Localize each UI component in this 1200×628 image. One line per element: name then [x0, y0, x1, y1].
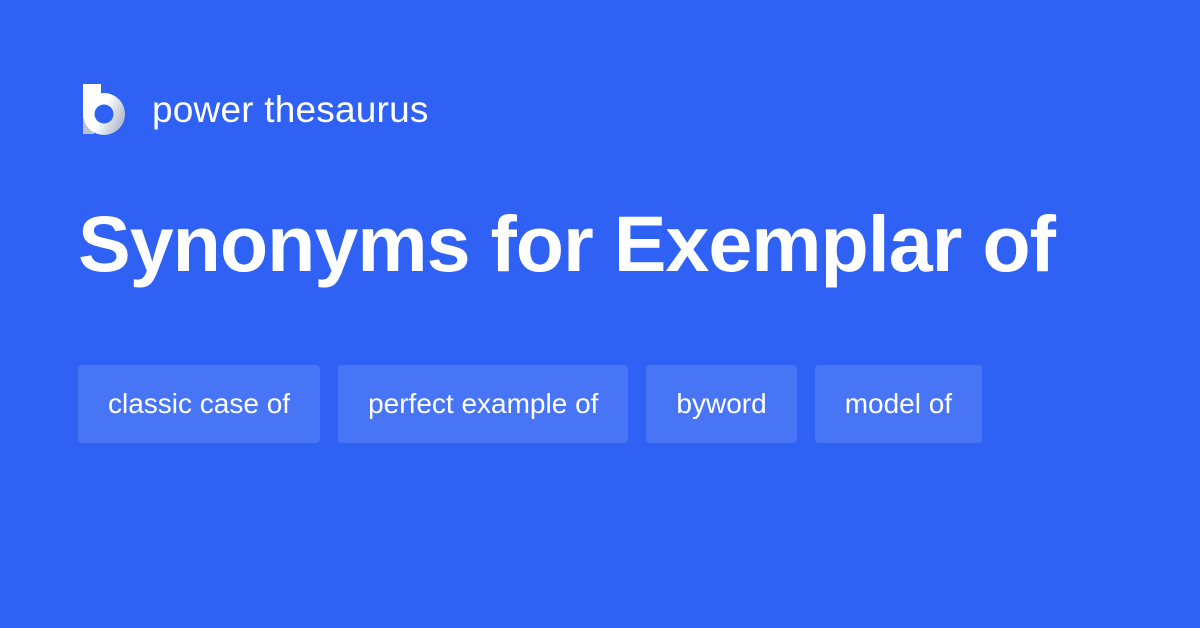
power-thesaurus-logo-icon — [78, 82, 128, 136]
synonym-chip[interactable]: perfect example of — [338, 365, 628, 443]
synonym-chip-list: classic case of perfect example of bywor… — [78, 365, 1138, 443]
brand-name: power thesaurus — [152, 91, 429, 128]
synonym-chip[interactable]: classic case of — [78, 365, 320, 443]
brand-header[interactable]: power thesaurus — [78, 82, 429, 136]
page-title: Synonyms for Exemplar of — [78, 196, 1138, 292]
synonyms-share-card: power thesaurus Synonyms for Exemplar of… — [0, 0, 1200, 628]
synonym-chip[interactable]: byword — [646, 365, 796, 443]
synonym-chip[interactable]: model of — [815, 365, 982, 443]
